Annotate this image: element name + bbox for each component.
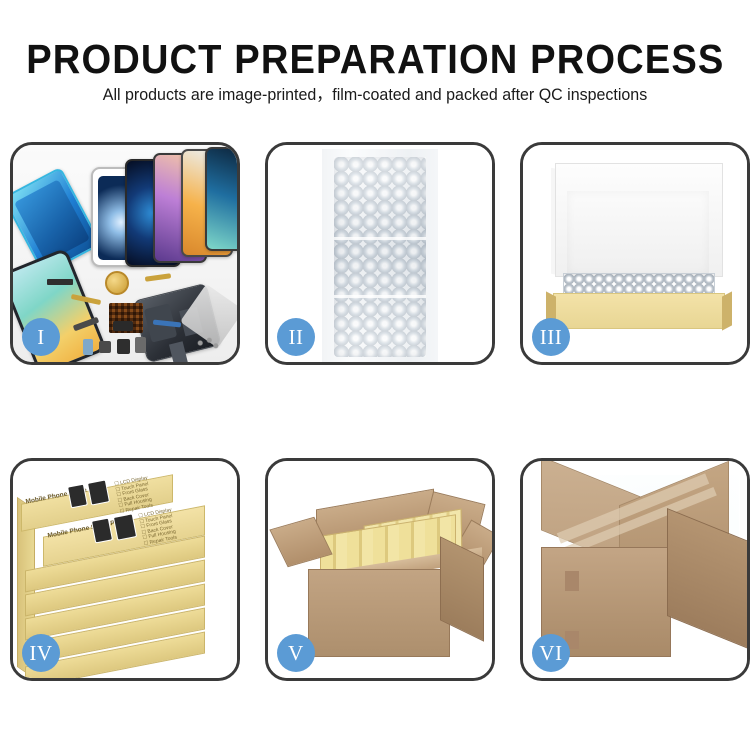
bubble-wrap-bubbles — [334, 157, 426, 357]
lid-checklist-front: ☐ LCD Display☐ Touch Panel☐ Front Glass☐… — [138, 508, 177, 547]
vibrator-part — [99, 341, 111, 353]
flex-cable-part-3 — [145, 273, 171, 282]
page-title: PRODUCT PREPARATION PROCESS — [26, 36, 724, 82]
button-part — [135, 337, 146, 353]
camera-module-part — [117, 339, 130, 354]
step-card-1: I — [10, 142, 240, 365]
sim-tray-part — [113, 321, 133, 331]
wrap-seam-1 — [334, 237, 426, 240]
step-card-2: II — [265, 142, 495, 365]
lid-screen-image-2 — [87, 479, 110, 505]
product-preparation-infographic: PRODUCT PREPARATION PROCESS All products… — [0, 0, 750, 750]
step-card-6: VI — [520, 458, 750, 681]
lid-checklist-back: ☐ LCD Display☐ Touch Panel☐ Front Glass☐… — [114, 476, 153, 515]
steps-grid: I II III — [10, 142, 740, 682]
screws-group — [195, 336, 221, 350]
page-subtitle: All products are image-printed，film-coat… — [11, 84, 739, 106]
step-card-4: Mobile Phone Spare Parts Mobile Phone Sp… — [10, 458, 240, 681]
lid-screen-image-4 — [113, 513, 137, 540]
phone-teal-screen — [205, 147, 237, 251]
box-foam-liner — [567, 191, 709, 275]
step-badge-6: VI — [532, 634, 570, 672]
step-badge-2: II — [277, 318, 315, 356]
box-base — [553, 293, 725, 329]
earpiece-part — [47, 279, 73, 285]
battery-part — [83, 339, 93, 355]
speaker-coil-part — [105, 271, 129, 295]
step-badge-5: V — [277, 634, 315, 672]
carton-edge-tab-1 — [565, 571, 579, 591]
step-card-3: III — [520, 142, 750, 365]
carton-front-face — [308, 569, 450, 657]
step-badge-1: I — [22, 318, 60, 356]
step-badge-4: IV — [22, 634, 60, 672]
step-badge-3: III — [532, 318, 570, 356]
wrap-seam-2 — [334, 295, 426, 298]
step-card-5: V — [265, 458, 495, 681]
